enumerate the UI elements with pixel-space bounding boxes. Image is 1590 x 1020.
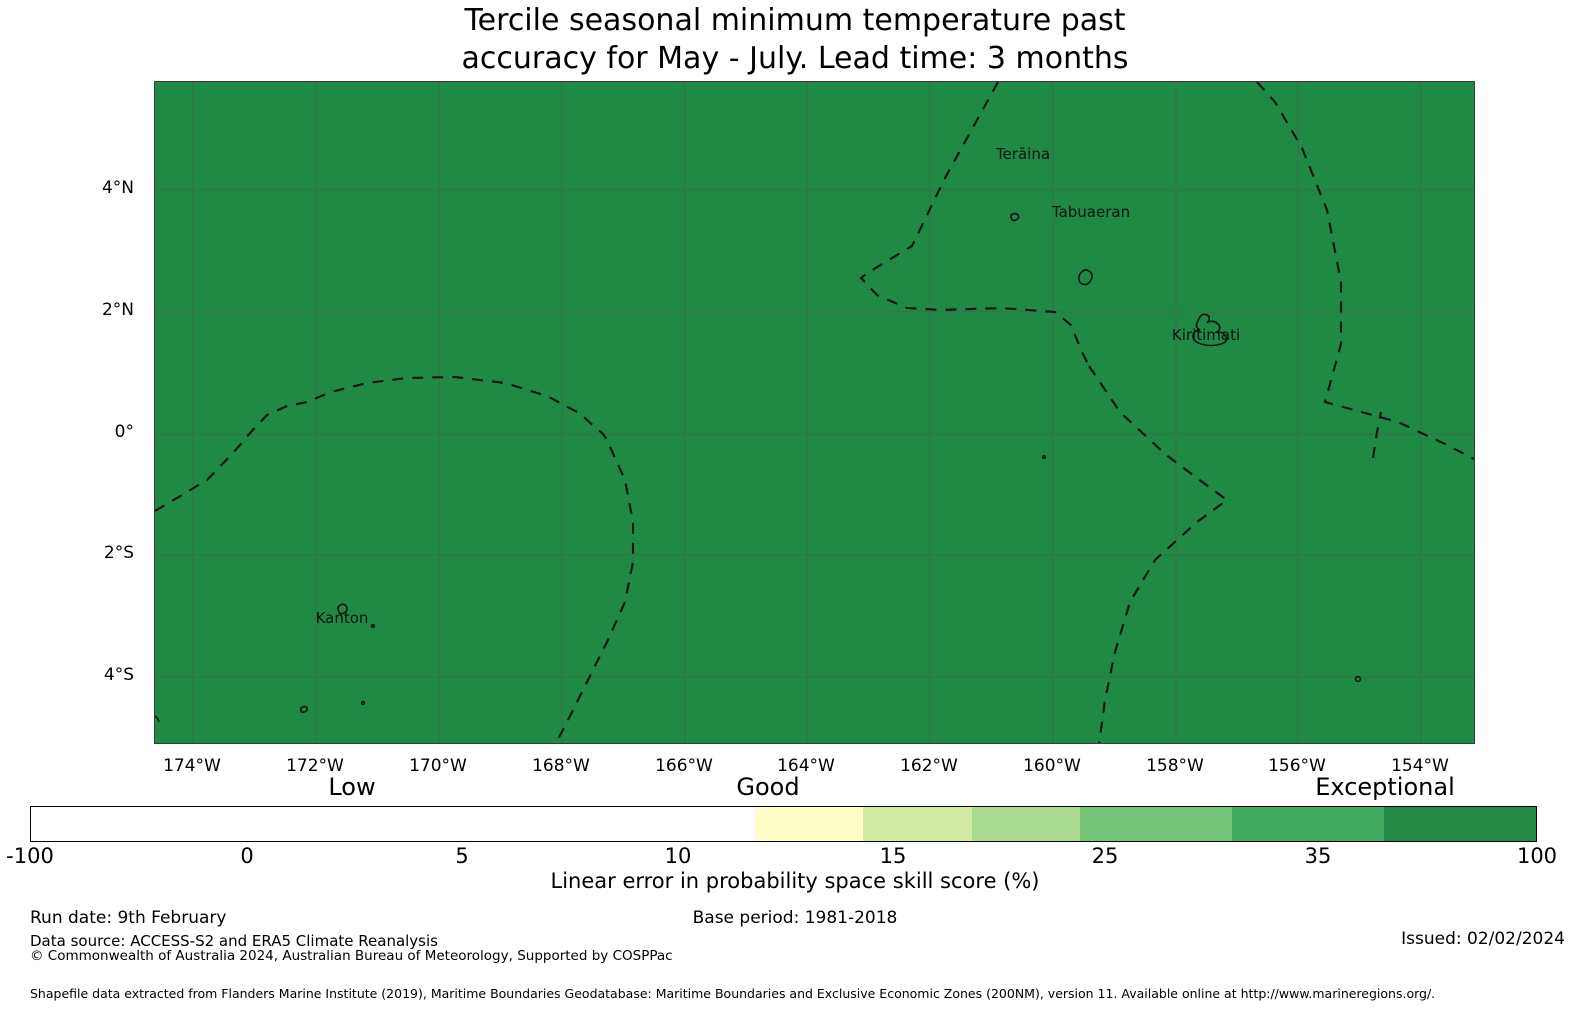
skill-field-raster xyxy=(155,82,1475,744)
x-tick-label-158w: 158°W xyxy=(1115,756,1235,776)
colorbar-tick-0: 0 xyxy=(177,844,317,868)
footer-copyright: © Commonwealth of Australia 2024, Austra… xyxy=(30,947,673,966)
footer-shapefile: Shapefile data extracted from Flanders M… xyxy=(30,985,1435,1002)
category-label-good: Good xyxy=(618,773,918,801)
colorbar-tick-neg100: -100 xyxy=(0,844,100,868)
y-tick-label-2n: 2°N xyxy=(0,302,134,319)
colorbar-segment-10-15[interactable] xyxy=(972,807,1081,841)
map-layer: Terāina Tabuaeran Kiritimati Kanton xyxy=(155,82,1475,744)
colorbar-tick-35: 35 xyxy=(1248,844,1388,868)
page-title: Tercile seasonal minimum temperature pas… xyxy=(0,2,1590,78)
colorbar-segment-25-35[interactable] xyxy=(1232,807,1384,841)
colorbar-segment-neg100-0[interactable] xyxy=(31,807,755,841)
colorbar-segment-35-100[interactable] xyxy=(1384,807,1536,841)
y-tick-label-4s: 4°S xyxy=(0,667,134,684)
x-tick-label-168w: 168°W xyxy=(501,756,621,776)
island-label-tabuaeran: Tabuaeran xyxy=(1051,203,1130,221)
footer-issued: Issued: 02/02/2024 xyxy=(1401,928,1565,950)
category-label-exceptional: Exceptional xyxy=(1235,773,1535,801)
x-tick-label-160w: 160°W xyxy=(992,756,1112,776)
footer-base-period: Base period: 1981-2018 xyxy=(0,907,1590,929)
colorbar-segment-5-10[interactable] xyxy=(863,807,972,841)
y-tick-label-0: 0° xyxy=(0,424,134,441)
island-label-kiritimati: Kiritimati xyxy=(1172,326,1240,344)
island-label-teraina: Terāina xyxy=(995,145,1050,163)
y-tick-label-2s: 2°S xyxy=(0,545,134,562)
island-label-kanton: Kanton xyxy=(316,609,369,627)
colorbar-tick-10: 10 xyxy=(608,844,748,868)
colorbar-axis-label: Linear error in probability space skill … xyxy=(0,869,1590,894)
colorbar-segment-15-25[interactable] xyxy=(1080,807,1232,841)
colorbar-segment-0-5[interactable] xyxy=(755,807,864,841)
colorbar[interactable] xyxy=(30,806,1537,842)
colorbar-tick-25: 25 xyxy=(1035,844,1175,868)
colorbar-tick-100: 100 xyxy=(1467,844,1590,868)
colorbar-tick-15: 15 xyxy=(823,844,963,868)
y-tick-label-4n: 4°N xyxy=(0,180,134,197)
colorbar-tick-5: 5 xyxy=(392,844,532,868)
category-label-low: Low xyxy=(202,773,502,801)
map-plot-area[interactable]: Terāina Tabuaeran Kiritimati Kanton xyxy=(154,81,1475,744)
